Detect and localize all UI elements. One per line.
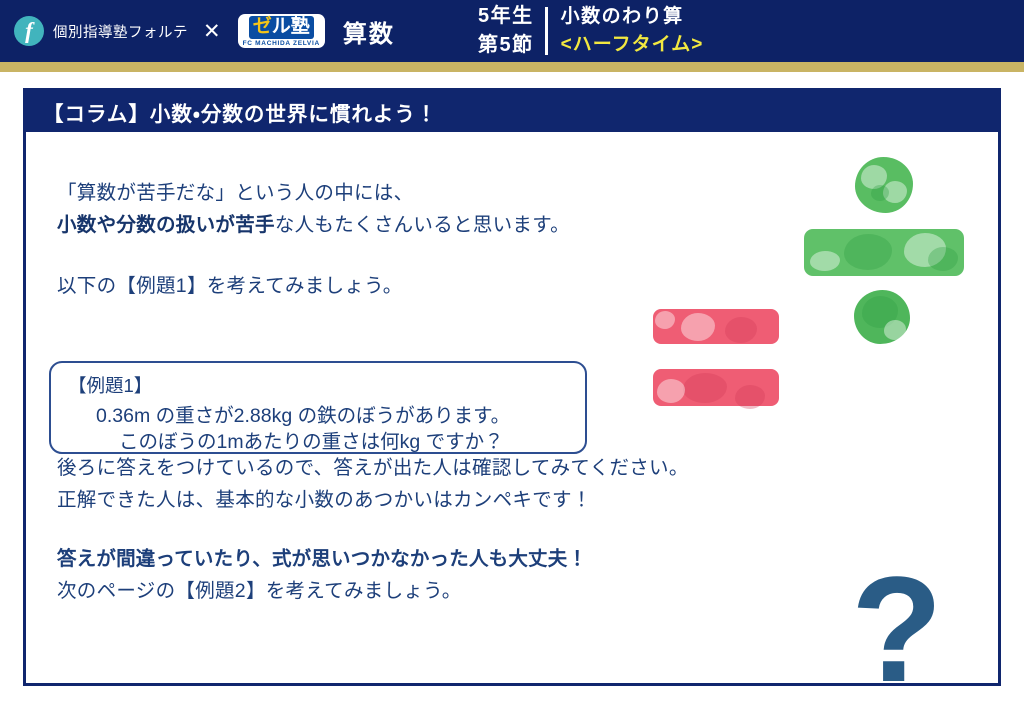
gold-divider-strip: [0, 62, 1024, 72]
equals-sign-top-bar-icon: [653, 309, 779, 344]
after-line-1: 後ろに答えをつけているので、答えが出た人は確認してみてください。: [57, 453, 689, 485]
collaboration-cross-icon: ✕: [203, 21, 221, 42]
zelvia-logo-rest: ル塾: [272, 16, 310, 37]
topic-title: 小数のわり算: [561, 3, 704, 31]
section-label: 第5節: [478, 31, 534, 60]
grade-section-block: 5年生 第5節: [478, 2, 534, 60]
intro-paragraph: 「算数が苦手だな」という人の中には、 小数や分数の扱いが苦手な人もたくさんいると…: [57, 178, 570, 241]
example-line-2: このぼうの1mあたりの重さは何kg ですか？: [119, 425, 504, 454]
panel-title-bar: 【コラム】小数・分数の世界に慣れよう！: [26, 91, 998, 132]
grade-label: 5年生: [478, 2, 534, 31]
example-label: 【例題1】: [68, 372, 152, 398]
forte-logo-icon: f: [14, 16, 44, 46]
example-line-1: 0.36m の重さが2.88kg の鉄のぼうがあります。: [96, 399, 510, 428]
division-sign-top-dot-icon: [855, 157, 913, 213]
encouragement-line-2: 次のページの【例題2】を考えてみましょう。: [57, 576, 587, 608]
question-mark-icon: ?: [851, 554, 943, 704]
math-symbols-illustration: ?: [626, 154, 998, 664]
intro-line-1: 「算数が苦手だな」という人の中には、: [57, 178, 570, 210]
panel-body: 「算数が苦手だな」という人の中には、 小数や分数の扱いが苦手な人もたくさんいると…: [26, 132, 998, 683]
after-paragraph: 後ろに答えをつけているので、答えが出た人は確認してみてください。 正解できた人は…: [57, 453, 689, 516]
intro-line-2-bold: 小数や分数の扱いが苦手: [57, 214, 275, 236]
topic-block: 小数のわり算 <ハーフタイム>: [561, 3, 704, 58]
encouragement-line-1: 答えが間違っていたり、式が思いつかなかった人も大丈夫！: [57, 544, 587, 576]
division-sign-bar-icon: [804, 229, 964, 276]
header-lesson-info: 5年生 第5節 小数のわり算 <ハーフタイム>: [478, 0, 703, 62]
forte-brand-name: 個別指導塾フォルテ: [53, 21, 188, 42]
zelvia-logo-accent: ゼ: [253, 16, 272, 37]
lead-paragraph: 以下の【例題1】を考えてみましょう。: [57, 271, 403, 303]
equals-sign-bottom-bar-icon: [653, 369, 779, 406]
forte-logo-letter: f: [25, 19, 33, 42]
intro-line-2: 小数や分数の扱いが苦手な人もたくさんいると思います。: [57, 210, 570, 242]
division-sign-bottom-dot-icon: [854, 290, 910, 344]
example-problem-box: 【例題1】 0.36m の重さが2.88kg の鉄のぼうがあります。 このぼうの…: [49, 361, 587, 454]
zelvia-logo: ゼル塾 FC MACHIDA ZELVIA: [238, 14, 325, 48]
zelvia-logo-text: ゼル塾: [249, 16, 314, 39]
content-panel: 【コラム】小数・分数の世界に慣れよう！ 「算数が苦手だな」という人の中には、 小…: [23, 88, 1001, 686]
header-divider: [545, 7, 548, 55]
encouragement-paragraph: 答えが間違っていたり、式が思いつかなかった人も大丈夫！ 次のページの【例題2】を…: [57, 544, 587, 607]
zelvia-logo-subtitle: FC MACHIDA ZELVIA: [243, 40, 320, 47]
intro-line-2-rest: な人もたくさんいると思います。: [275, 214, 570, 236]
brand-lockup: f 個別指導塾フォルテ ✕ ゼル塾 FC MACHIDA ZELVIA 算数: [0, 14, 395, 49]
topic-subtitle: <ハーフタイム>: [561, 31, 704, 59]
after-line-2: 正解できた人は、基本的な小数のあつかいはカンペキです！: [57, 485, 689, 517]
page-header: f 個別指導塾フォルテ ✕ ゼル塾 FC MACHIDA ZELVIA 算数 5…: [0, 0, 1024, 62]
subject-label: 算数: [343, 14, 395, 49]
panel-title-text: 【コラム】小数・分数の世界に慣れよう！: [43, 97, 437, 127]
